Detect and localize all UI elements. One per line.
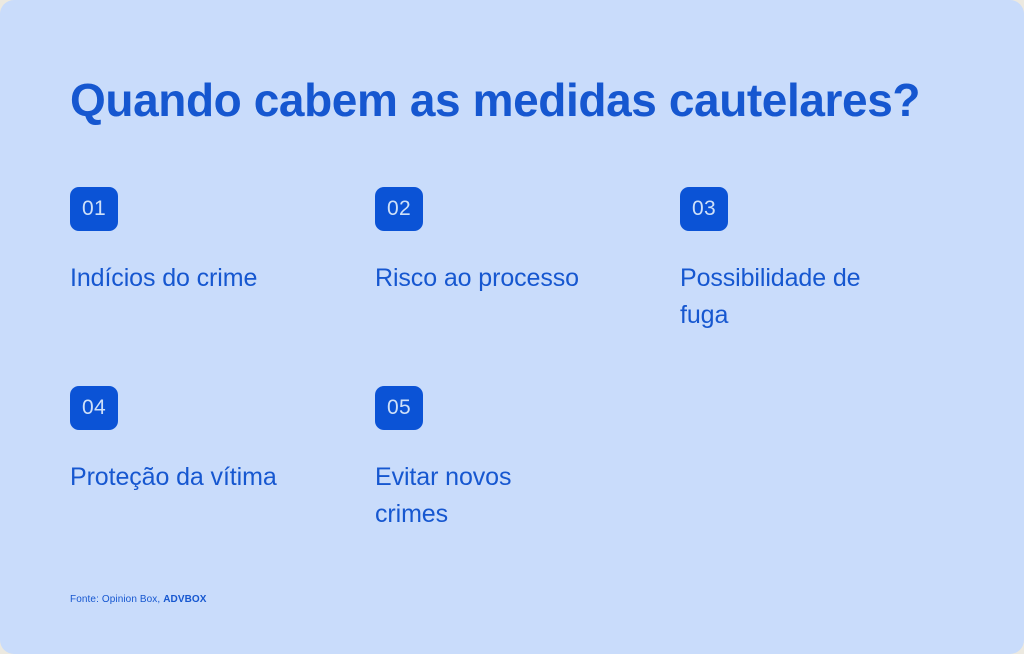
item-number-badge: 05 [375,386,423,430]
item-number-badge: 01 [70,187,118,231]
source-prefix: Fonte: Opinion Box, [70,594,160,605]
list-item-01: 01 Indícios do crime [70,187,360,297]
brand-name: ADVBOX [163,594,206,605]
source-credit: Fonte: Opinion Box, ADVBOX [70,593,207,607]
page-title: Quando cabem as medidas cautelares? [70,70,950,130]
infographic-card: Quando cabem as medidas cautelares? 01 I… [0,0,1024,654]
list-item-02: 02 Risco ao processo [375,187,665,297]
items-row-1: 01 Indícios do crime 02 Risco ao process… [70,187,970,386]
item-label: Possibilidade de fuga [680,260,890,334]
item-number-badge: 04 [70,386,118,430]
list-item-03: 03 Possibilidade de fuga [680,187,970,334]
item-number-badge: 03 [680,187,728,231]
items-grid: 01 Indícios do crime 02 Risco ao process… [70,187,970,585]
item-label: Indícios do crime [70,260,280,297]
list-item-05: 05 Evitar novos crimes [375,386,665,533]
item-label: Risco ao processo [375,260,585,297]
item-number-badge: 02 [375,187,423,231]
item-label: Proteção da vítima [70,459,280,496]
items-row-2: 04 Proteção da vítima 05 Evitar novos cr… [70,386,970,585]
item-label: Evitar novos crimes [375,459,585,533]
list-item-04: 04 Proteção da vítima [70,386,360,496]
